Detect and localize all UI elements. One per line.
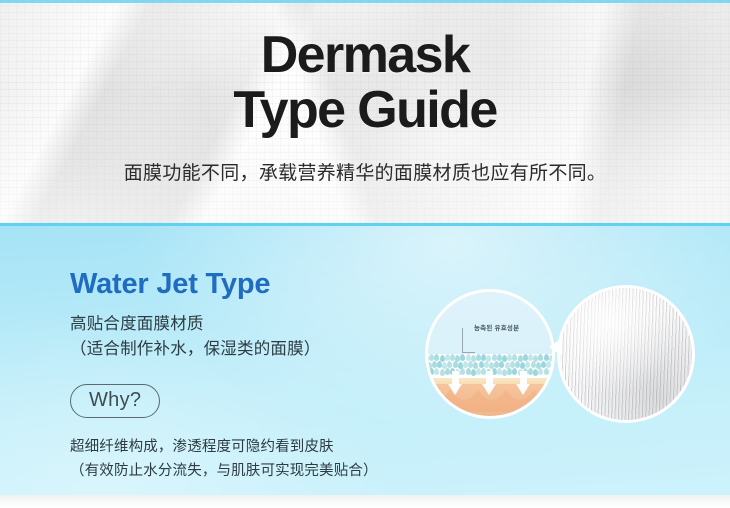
active-ingredient-label: 농축된 유효성분 [474,322,519,332]
illustration-group: 농축된 유효성분 [418,280,708,430]
serum-droplet-icon [499,361,504,368]
section-divider-rule [0,223,730,226]
water-jet-section: Water Jet Type 高贴合度面膜材质 （适合制作补水，保湿类的面膜） … [0,226,730,495]
bottom-strip [0,495,730,508]
serum-droplet-icon [466,368,471,375]
why-description: 超细纤维构成，渗透程度可隐约看到皮肤 （有效防止水分流失，与肌肤可实现完美贴合） [70,436,400,483]
fabric-shading-overlay [560,288,692,420]
penetration-arrow-icon [482,371,497,397]
serum-droplet-icon [549,369,552,376]
serum-droplet-icon [479,361,484,368]
callout-notch [549,338,562,356]
section-subtitle-line-1: 高贴合度面膜材质 [70,315,204,333]
dermask-type-guide-page: Dermask Type Guide 面膜功能不同，承载营养精华的面膜材质也应有… [0,0,730,508]
section-copy-block: Water Jet Type 高贴合度面膜材质 （适合制作补水，保湿类的面膜） … [70,270,400,483]
section-subtitle: 高贴合度面膜材质 （适合制作补水，保湿类的面膜） [70,312,400,362]
why-badge[interactable]: Why? [70,384,160,418]
section-subtitle-line-2: （适合制作补水，保湿类的面膜） [70,337,400,362]
skin-cross-section-circle: 농축된 유효성분 [428,292,552,416]
top-accent-rule [0,0,730,3]
serum-droplet-icon [434,354,439,361]
serum-droplet-icon [512,354,517,361]
serum-droplet-icon [460,354,465,361]
header-subtitle: 面膜功能不同，承载营养精华的面膜材质也应有所不同。 [124,158,607,185]
serum-droplet-icon [466,354,471,361]
serum-droplet-icon [551,362,552,369]
why-description-line-1: 超细纤维构成，渗透程度可隐约看到皮肤 [70,439,334,455]
page-title: Dermask Type Guide [233,30,496,136]
serum-droplet-icon [544,368,549,375]
penetration-arrow-icon [516,371,531,397]
serum-droplet-icon [453,361,458,368]
penetration-arrow-icon [448,371,463,397]
serum-droplet-icon [544,354,549,361]
serum-droplet-icon [492,354,497,361]
serum-droplet-icon [538,368,543,375]
serum-droplet-icon [440,369,445,376]
fabric-macro-circle [560,288,692,420]
section-heading: Water Jet Type [70,270,400,299]
serum-droplet-icon [538,354,543,361]
serum-droplet-icon [447,361,452,368]
title-line-2: Type Guide [233,85,496,136]
header-banner: Dermask Type Guide 面膜功能不同，承载营养精华的面膜材质也应有… [0,0,730,223]
title-line-1: Dermask [233,30,496,81]
serum-droplet-icon [434,368,439,375]
serum-droplet-icon [531,361,536,368]
serum-droplet-icon [525,361,530,368]
why-description-line-2: （有效防止水分流失，与肌肤可实现完美贴合） [70,460,400,483]
